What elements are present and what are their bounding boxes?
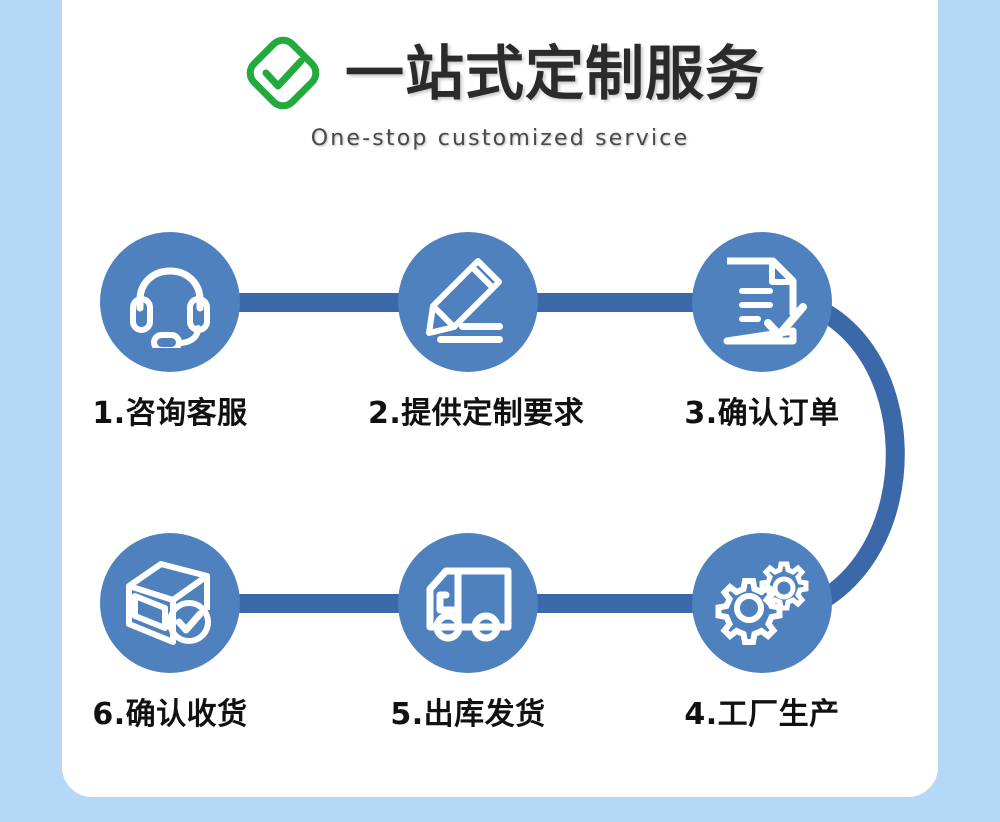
flow-step-2[interactable]: 2.提供定制要求 [368, 232, 568, 432]
page-subtitle: One-stop customized service [62, 126, 938, 151]
connector-4-5 [532, 594, 702, 613]
flow-step-6-label: 6.确认收货 [70, 689, 270, 733]
flow-step-5-label: 5.出库发货 [368, 689, 568, 733]
pencil-writing-icon [421, 255, 515, 349]
title-row: 一站式定制服务 [62, 28, 938, 118]
header: 一站式定制服务 One-stop customized service [62, 28, 938, 158]
flow-step-1-circle[interactable] [100, 232, 240, 372]
flow-step-5[interactable]: 5.出库发货 [368, 533, 568, 733]
page-title: 一站式定制服务 [345, 44, 765, 103]
headset-icon [124, 256, 216, 348]
connector-5-6 [236, 594, 406, 613]
flow-step-6-circle[interactable] [100, 533, 240, 673]
flow-step-2-label: 2.提供定制要求 [368, 388, 568, 432]
flow-step-1-label: 1.咨询客服 [70, 388, 270, 432]
green-diamond-check-icon [235, 25, 331, 121]
document-check-icon [715, 255, 809, 349]
flow-step-2-circle[interactable] [398, 232, 538, 372]
page-root: 一站式定制服务 One-stop customized service 1.咨询 [0, 0, 1000, 822]
flow-step-4-circle[interactable] [692, 533, 832, 673]
flow-step-5-circle[interactable] [398, 533, 538, 673]
flow-step-3-circle[interactable] [692, 232, 832, 372]
flow-step-1[interactable]: 1.咨询客服 [70, 232, 270, 432]
package-check-icon [121, 554, 219, 652]
gears-icon [714, 555, 810, 651]
flow-step-6[interactable]: 6.确认收货 [70, 533, 270, 733]
delivery-truck-icon [420, 555, 516, 651]
connector-1-2 [236, 293, 406, 312]
flow-step-4-label: 4.工厂生产 [662, 689, 862, 733]
connector-2-3 [532, 293, 702, 312]
